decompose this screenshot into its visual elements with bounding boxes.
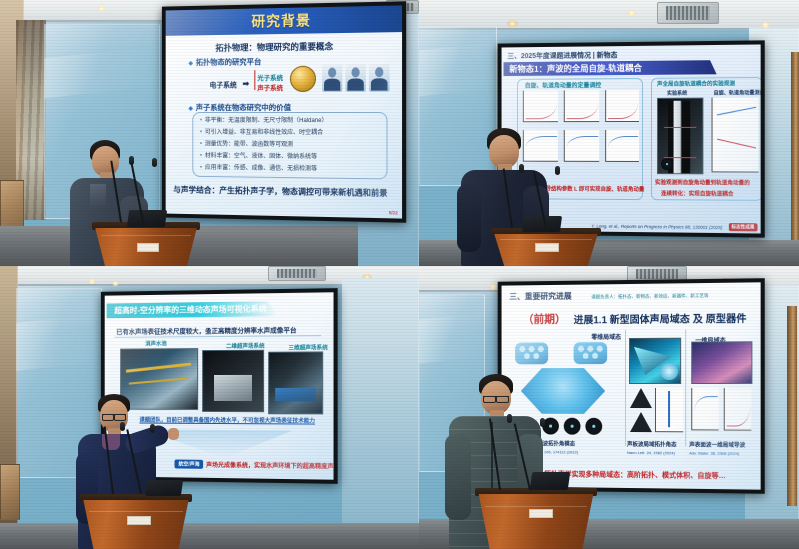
triangle-lattice-icon-0 [630,388,652,408]
slide-title-ribbon: 超高时-空分辨率的三维动态声场可视化系统 [107,301,279,318]
ceiling-downlight-1 [88,279,96,284]
podium-1-edge [101,235,192,236]
mic-head-3b [150,424,155,433]
slide-section-subheader: 课题负责人：拓扑态、新物态、新效应、新器件、新工艺等 [591,293,708,300]
diagram-right-label-0: 光子系统 [257,72,283,82]
speaker-3-hand [168,428,179,440]
portrait-3 [369,64,390,92]
spectrum-peak-plot [655,388,683,432]
podium-2-nameplate [535,243,559,252]
podium-3 [80,494,192,549]
slide-title-prefix: （前期） [523,311,566,327]
slide-title-ribbon: 新物态1：声波的全局自旋-轨道耦合 [503,60,716,76]
presentation-screen: 研究背景 拓扑物理：物理研究的重要概念 拓扑物态的研究平台 电子系统 ➡ 光子系… [162,1,406,223]
plot-b [564,90,599,122]
slide-title: 新物态1：声波的全局自旋-轨道耦合 [509,62,642,75]
value-item-2: 测量优势：能带、波函数等可观测 [200,139,293,149]
mic-head-2b [555,166,560,175]
right-panel-conclusion-1: 实验观测到自旋角动量到轨道角动量的 [655,178,750,187]
door-frame [787,306,797,506]
podium-4 [475,488,597,549]
slide-title: 超高时-空分辨率的三维动态声场可视化系统 [114,303,266,316]
speaker-4-glasses [483,396,509,397]
wall-panel-right [342,278,419,549]
ac-vent [268,266,326,281]
column-caption-1: 声板波局域拓扑角态 [627,440,677,448]
wall-reflection [16,313,108,371]
screen-surface: 研究背景 拓扑物理：物理研究的重要概念 拓扑物态的研究平台 电子系统 ➡ 光子系… [166,5,402,218]
portrait-2 [345,64,365,92]
slide-subtitle: 拓扑物理：物理研究的重要概念 [215,40,333,54]
value-item-0: 非平衡：无温度限制、无尺寸限制（Haldane） [200,115,328,124]
corner-mode-disk-2 [564,418,581,435]
slide-footer: 声场光成像系统，实现水声环境下的超高精度声场监测与探测 [206,460,333,471]
podium-2 [491,228,601,266]
slide-section-header: 三、重要研究进展 [509,291,571,303]
slide-badge: 标志性成果 [728,223,757,231]
right-panel-conclusion-2: 连续转化：实现自旋轨道耦合 [661,189,733,198]
wall-reflection [419,312,489,363]
triangle-lattice-icon-1 [630,412,652,432]
value-item-4: 应用丰富：传感、成像、通信、无损检测等 [200,162,317,172]
slide-lead-text: 已有水声场表征技术尺度较大，亟正高精度分辨率水声成像平台 [116,324,296,336]
ac-vent [657,2,719,24]
mic-head-3a [120,422,125,431]
triangular-wedge-figure [629,338,681,384]
honeycomb-lattice-figure-2 [574,342,608,364]
slide-section-header: 三、2025年度课题进展情况 | 新物态 [507,50,617,61]
mic-head-4a [507,414,512,423]
wall-reflection [419,42,503,97]
slide-bullet-0: 拓扑物态的研究平台 [188,56,261,68]
slide-page-number: 5/22 [389,210,398,215]
portrait-1 [322,64,342,91]
podium-4-nameplate [529,509,553,518]
facility-photo-1 [202,350,264,412]
panel-top-left: 研究背景 拓扑物理：物理研究的重要概念 拓扑物态的研究平台 电子系统 ➡ 光子系… [0,0,419,266]
slide-footer: 拓扑声学实现多种局域态：高阶拓扑、模式体积、自旋等… [544,469,726,481]
floor [0,523,419,549]
photo-collage: 研究背景 拓扑物理：物理研究的重要概念 拓扑物态的研究平台 电子系统 ➡ 光子系… [0,0,799,549]
slide-citation: Y. Long, et al., Reports on Progress in … [591,224,722,230]
slide-badge: 航空/声海 [175,459,204,468]
speaker-4-left-arm [445,434,471,520]
panel-top-right: 三、2025年度课题进展情况 | 新物态 新物态1：声波的全局自旋-轨道耦合 自… [419,0,799,266]
column-header-0: 零维局域态 [591,332,621,341]
panel-bottom-left: 超高时-空分辨率的三维动态声场可视化系统 已有水声场表征技术尺度较大，亟正高精度… [0,266,419,549]
honeycomb-lattice-figure [515,342,548,364]
angular-momentum-plot [712,97,759,172]
layered-slab-figure [691,341,752,384]
image-caption-2: 三维超声场系统 [288,343,327,351]
slide-footer: 与声学结合：产生拓扑声子学，物态调控可带来新机遇和前景 [173,184,387,198]
mic-head-4b [540,418,545,427]
panel-bottom-right: 三、重要研究进展 课题负责人：拓扑态、新物态、新效应、新器件、新工艺等 （前期）… [419,266,799,549]
image-caption-0: 消声水池 [145,339,166,347]
right-panel-caption: 声全局自旋轨道耦合的实验观测 [657,79,735,88]
podium-3-nameplate [127,516,151,525]
value-item-1: 可引入增益、非互易和非线性效应、时空耦合 [200,127,323,136]
podium-2-edge [500,239,592,240]
nobel-medal-icon [290,66,316,92]
ceiling-downlight-1 [489,284,498,290]
experiment-setup-photo [657,98,703,175]
podium-4-body [475,494,597,549]
door-frame [791,52,799,242]
corner-mode-disk-3 [585,418,602,435]
marker-line-top [664,127,696,128]
column-citation-1: Nano Lett. 24, 1562 (2024) [627,450,675,455]
ceiling-downlight-1 [627,10,636,16]
plot-f [605,130,639,162]
value-item-3: 材料丰富：空气、液体、固体、微纳系统等 [200,150,317,160]
column-citation-2: Adv. Mater. 36, 2308 (2024) [689,450,739,455]
image-caption-1: 二维超声场系统 [226,342,265,350]
laptop-3 [145,480,183,496]
speaker-3-glasses [102,414,126,415]
column-caption-2: 声表面波一维局域导波 [689,440,745,448]
laptop-1 [127,210,167,227]
plot-a [523,90,558,122]
slide-research-background: 研究背景 拓扑物理：物理研究的重要概念 拓扑物态的研究平台 电子系统 ➡ 光子系… [166,5,402,218]
ceiling-downlight-2 [112,281,119,286]
laptop-4 [530,472,571,490]
podium-4-edge [485,506,588,507]
transducer-icon [661,158,673,170]
diagram-right-label-1: 声子系统 [257,82,283,92]
cardboard-boxes [0,464,20,520]
plot-e [564,130,599,162]
right-sub-caption-1: 自旋、轨道角动量测量 [714,89,761,96]
diagram-arrow: ➡ [243,79,250,88]
right-sub-caption-0: 实验系统 [667,90,687,97]
slide-title-main: 进展1.1 新型固体声局域态 及 原型器件 [574,310,747,327]
ceiling-downlight-1 [97,6,106,11]
podium-1 [92,222,200,266]
podium-1-nameplate [137,243,159,252]
speaker-2-left-arm [457,184,481,252]
diagram-left-label: 电子系统 [210,80,237,90]
podium-3-edge [89,511,183,512]
plot-c [605,90,639,122]
facility-photo-2 [268,351,323,414]
dispersion-plot-1 [724,388,752,431]
dispersion-plot-0 [691,388,718,430]
mic-head-2a [519,164,524,173]
mic-head-1b [152,158,157,167]
slide-title: 研究背景 [166,5,402,35]
ceiling-spotlight [507,20,518,27]
